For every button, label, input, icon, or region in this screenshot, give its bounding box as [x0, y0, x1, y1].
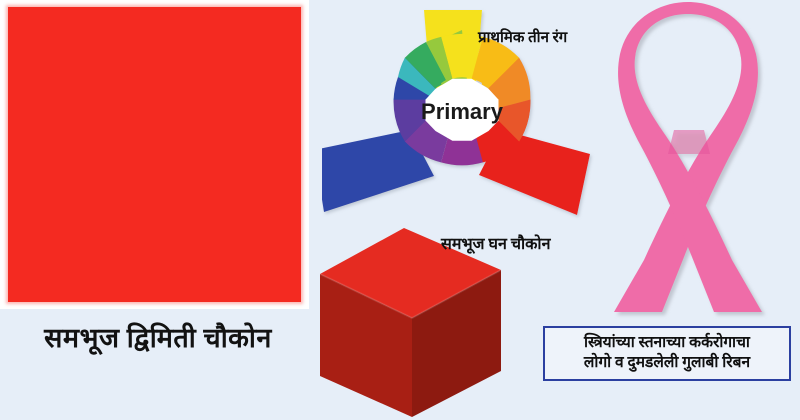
- red-square-shape: [8, 7, 301, 302]
- ribbon-crossing: [668, 130, 710, 154]
- image-canvas: समभूज द्विमिती चौकोन: [0, 0, 800, 420]
- red-square-caption: समभूज द्विमिती चौकोन: [8, 318, 308, 355]
- pink-ribbon-svg: [578, 2, 794, 324]
- red-cube-svg: [312, 228, 512, 420]
- pink-ribbon: [578, 2, 794, 324]
- ribbon-caption-line-1: स्त्रियांच्या स्तनाच्या कर्करोगाचा: [551, 333, 783, 353]
- red-cube: [312, 228, 512, 420]
- cube-caption: समभूज घन चौकोन: [441, 232, 550, 254]
- ribbon-body: [614, 2, 762, 312]
- ribbon-caption-box: स्त्रियांच्या स्तनाच्या कर्करोगाचा लोगो …: [543, 326, 791, 381]
- primary-three-colors-label: प्राथमिक तीन रंग: [478, 27, 567, 47]
- ribbon-caption-line-2: लोगो व दुमडलेली गुलाबी रिबन: [551, 353, 783, 373]
- wheel-center-label: Primary: [421, 99, 504, 124]
- red-square-panel: [0, 0, 309, 309]
